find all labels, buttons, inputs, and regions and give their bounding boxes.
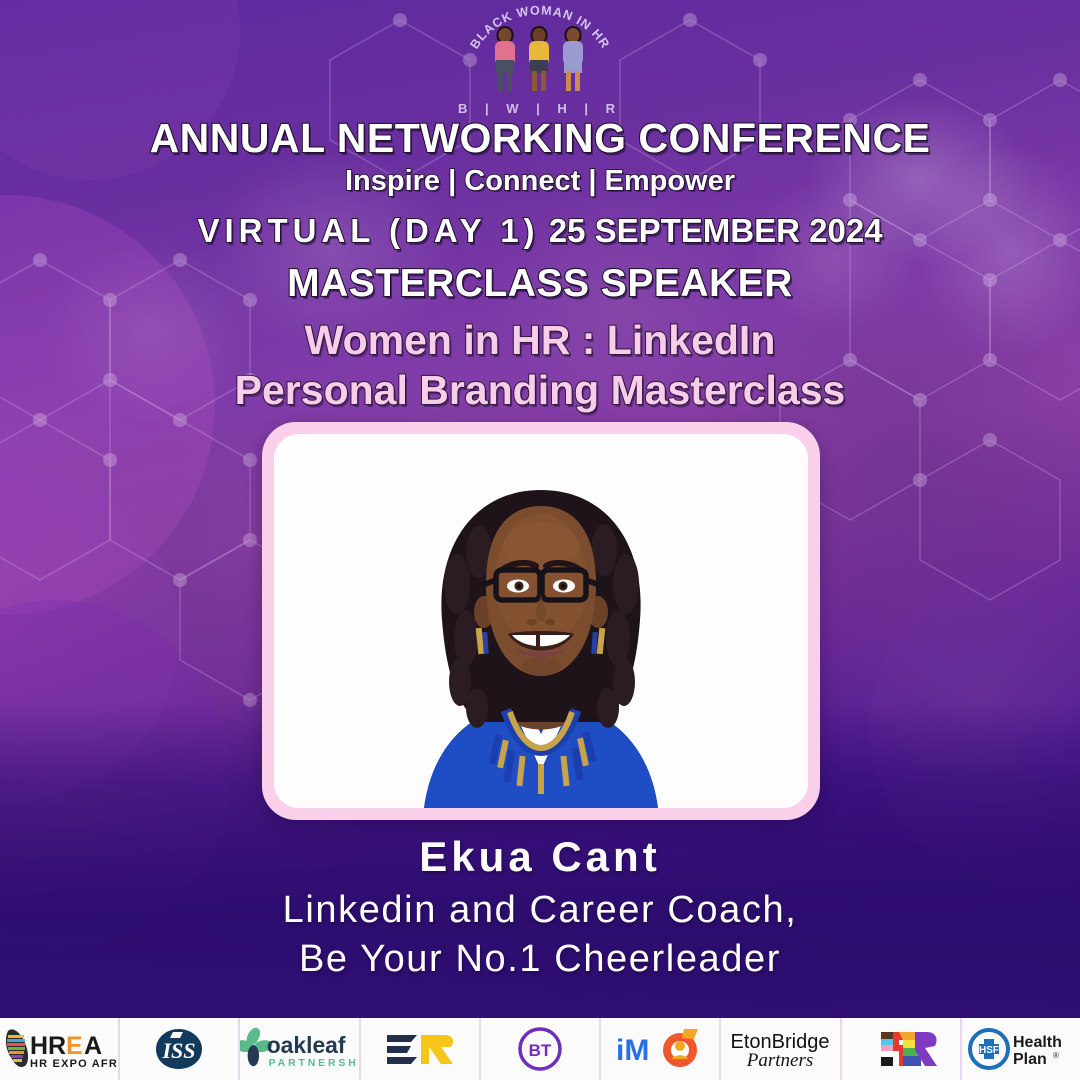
sponsor-logo-etonbridge-partners: EtonBridge Partners [721, 1018, 839, 1080]
sponsor-logo-hrea-hr-expo-africa: H R E A HR EXPO AFRICA [0, 1018, 118, 1080]
speaker-name: Ekua Cant [0, 833, 1080, 881]
logo-figure [557, 26, 589, 92]
masterclass-speaker-label: MASTERCLASS SPEAKER [0, 262, 1080, 306]
sponsor-logo-hsf-health-plan: HSF Health Plan ® [962, 1018, 1080, 1080]
black-woman-in-hr-logo: BLACK WOMAN IN HR [455, 4, 625, 116]
sponsor-logo-er [361, 1018, 479, 1080]
speaker-portrait-image [274, 434, 808, 808]
topic-line-2: Personal Branding Masterclass [0, 365, 1080, 415]
svg-text:ISS: ISS [162, 1038, 196, 1063]
svg-text:HSF: HSF [979, 1045, 999, 1056]
conference-speaker-poster: BLACK WOMAN IN HR [0, 0, 1080, 1080]
tagline: Inspire | Connect | Empower [0, 165, 1080, 198]
event-date-line: VIRTUAL (DAY 1) 25 SEPTEMBER 2024 [0, 212, 1080, 250]
svg-text:Plan: Plan [1013, 1051, 1047, 1068]
sponsor-logo-oakleaf-partnership: oakleaf PARTNERSHIP [240, 1018, 358, 1080]
portrait-frame [262, 422, 820, 820]
svg-text:iM: iM [616, 1034, 649, 1067]
logo-container: BLACK WOMAN IN HR [0, 4, 1080, 116]
speaker-role: Linkedin and Career Coach, Be Your No.1 … [0, 886, 1080, 983]
sponsor-logo-iss: ISS [120, 1018, 238, 1080]
speaker-portrait [274, 434, 808, 808]
topic-line-1: Women in HR : LinkedIn [0, 315, 1080, 365]
svg-text:Health: Health [1013, 1034, 1062, 1051]
svg-text:HR EXPO AFRICA: HR EXPO AFRICA [30, 1058, 118, 1070]
sponsor-logo-bar: H R E A HR EXPO AFRICA ISS [0, 1018, 1080, 1080]
logo-figures [489, 26, 593, 92]
logo-subtext: B | W | H | R [455, 101, 625, 116]
svg-text:Partners: Partners [746, 1050, 814, 1071]
svg-text:BT: BT [529, 1041, 552, 1060]
svg-text:®: ® [1053, 1051, 1059, 1060]
svg-text:oakleaf: oakleaf [267, 1032, 346, 1058]
page-title: ANNUAL NETWORKING CONFERENCE [0, 115, 1080, 162]
svg-text:H: H [30, 1032, 48, 1060]
svg-text:R: R [48, 1032, 66, 1060]
sponsor-logo-bt: BT [481, 1018, 599, 1080]
sponsor-logo-proud-hr: PROUD [842, 1018, 960, 1080]
svg-text:A: A [84, 1032, 102, 1060]
masterclass-topic: Women in HR : LinkedIn Personal Branding… [0, 315, 1080, 415]
logo-figure [489, 26, 521, 92]
sponsor-logo-imo: iM [601, 1018, 719, 1080]
event-format-label: VIRTUAL (DAY 1) [197, 212, 539, 249]
event-date: 25 SEPTEMBER 2024 [540, 212, 883, 249]
speaker-role-line-2: Be Your No.1 Cheerleader [0, 935, 1080, 984]
svg-text:PARTNERSHIP: PARTNERSHIP [269, 1058, 359, 1069]
svg-text:E: E [66, 1032, 83, 1060]
logo-figure [523, 26, 555, 92]
speaker-role-line-1: Linkedin and Career Coach, [0, 886, 1080, 935]
